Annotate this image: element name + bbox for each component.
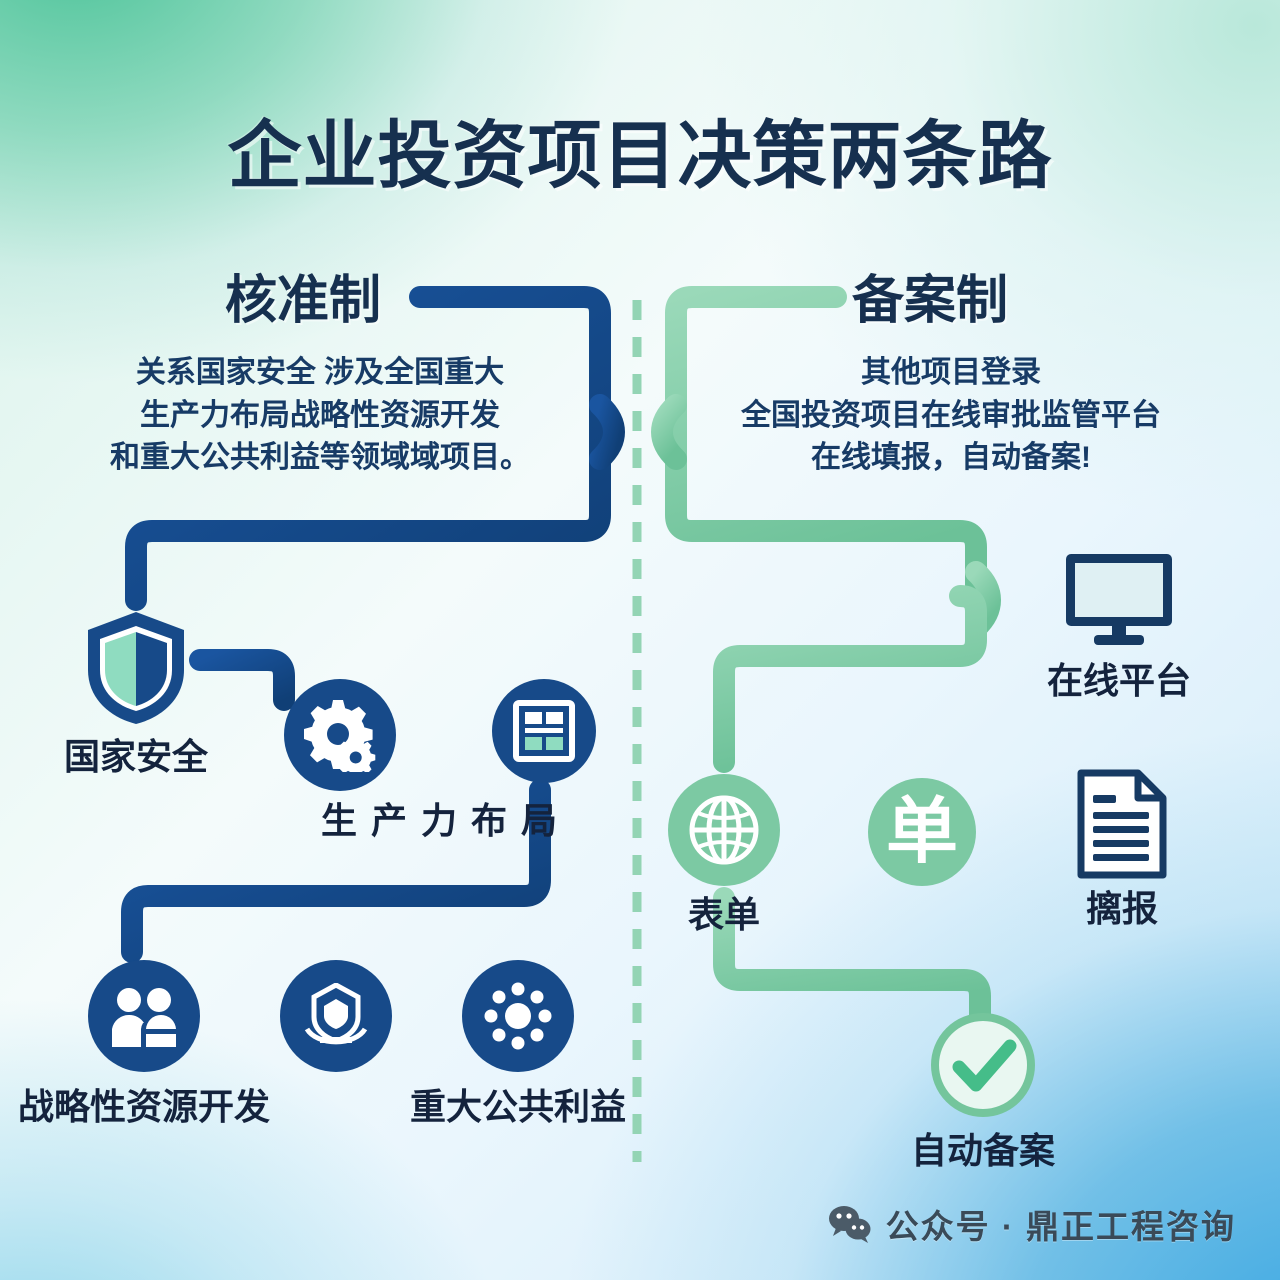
shield-icon [80, 608, 192, 726]
right-body-line-1: 其他项目登录 [672, 352, 1230, 395]
resource-shield-icon [303, 983, 369, 1049]
node-national-security[interactable]: 国家安全 [80, 608, 192, 726]
footer-text: 公众号 · 鼎正工程咨询 [886, 1200, 1236, 1248]
monitor-icon [1064, 552, 1174, 650]
document-icon [1076, 768, 1168, 880]
node-form-single[interactable]: 单 [868, 778, 976, 886]
label-fill-report: 摛报 [1086, 880, 1158, 932]
left-column-body: 关系国家安全 涉及全国重大 生产力布局战略性资源开发 和重大公共利益等领域域项目… [70, 352, 570, 480]
footer: 公众号 · 鼎正工程咨询 [828, 1200, 1236, 1248]
left-body-line-3: 和重大公共利益等领域域项目。 [70, 437, 570, 480]
label-form: 表单 [688, 886, 760, 938]
page-title: 企业投资项目决策两条路 [0, 96, 1280, 203]
label-online-platform: 在线平台 [1047, 652, 1191, 704]
left-body-line-1: 关系国家安全 涉及全国重大 [70, 352, 570, 395]
label-auto-filing: 自动备案 [911, 1122, 1055, 1174]
left-body-line-2: 生产力布局战略性资源开发 [70, 395, 570, 438]
people-icon [110, 985, 178, 1047]
right-body-line-2: 全国投资项目在线审批监管平台 [672, 395, 1230, 438]
dan-character-icon: 单 [886, 796, 958, 868]
node-form[interactable]: 表单 [668, 774, 780, 886]
grid-icon [512, 699, 576, 763]
right-column-body: 其他项目登录 全国投资项目在线审批监管平台 在线填报，自动备案! [672, 352, 1230, 480]
node-productivity-grid[interactable] [492, 679, 596, 783]
wechat-icon [828, 1205, 872, 1243]
node-online-platform[interactable]: 在线平台 [1064, 552, 1174, 650]
node-fill-report[interactable]: 摛报 [1076, 768, 1168, 880]
node-resource-middle[interactable] [280, 960, 392, 1072]
label-strategic-resource: 战略性资源开发 [18, 1078, 270, 1130]
gear-icon [303, 698, 377, 772]
label-national-security: 国家安全 [64, 728, 208, 780]
node-productivity-gear[interactable] [284, 679, 396, 791]
right-column-heading: 备案制 [852, 258, 1008, 333]
globe-icon [688, 794, 760, 866]
network-icon [483, 981, 553, 1051]
node-strategic-resource[interactable]: 战略性资源开发 [88, 960, 200, 1072]
node-public-interest[interactable]: 重大公共利益 [462, 960, 574, 1072]
node-auto-filing[interactable]: 自动备案 [928, 1010, 1038, 1120]
label-public-interest: 重大公共利益 [410, 1078, 626, 1130]
label-productivity-layout: 生 产 力 布 局 [321, 792, 559, 844]
check-circle-icon [928, 1010, 1038, 1120]
left-column-heading: 核准制 [225, 258, 381, 333]
right-body-line-3: 在线填报，自动备案! [672, 437, 1230, 480]
